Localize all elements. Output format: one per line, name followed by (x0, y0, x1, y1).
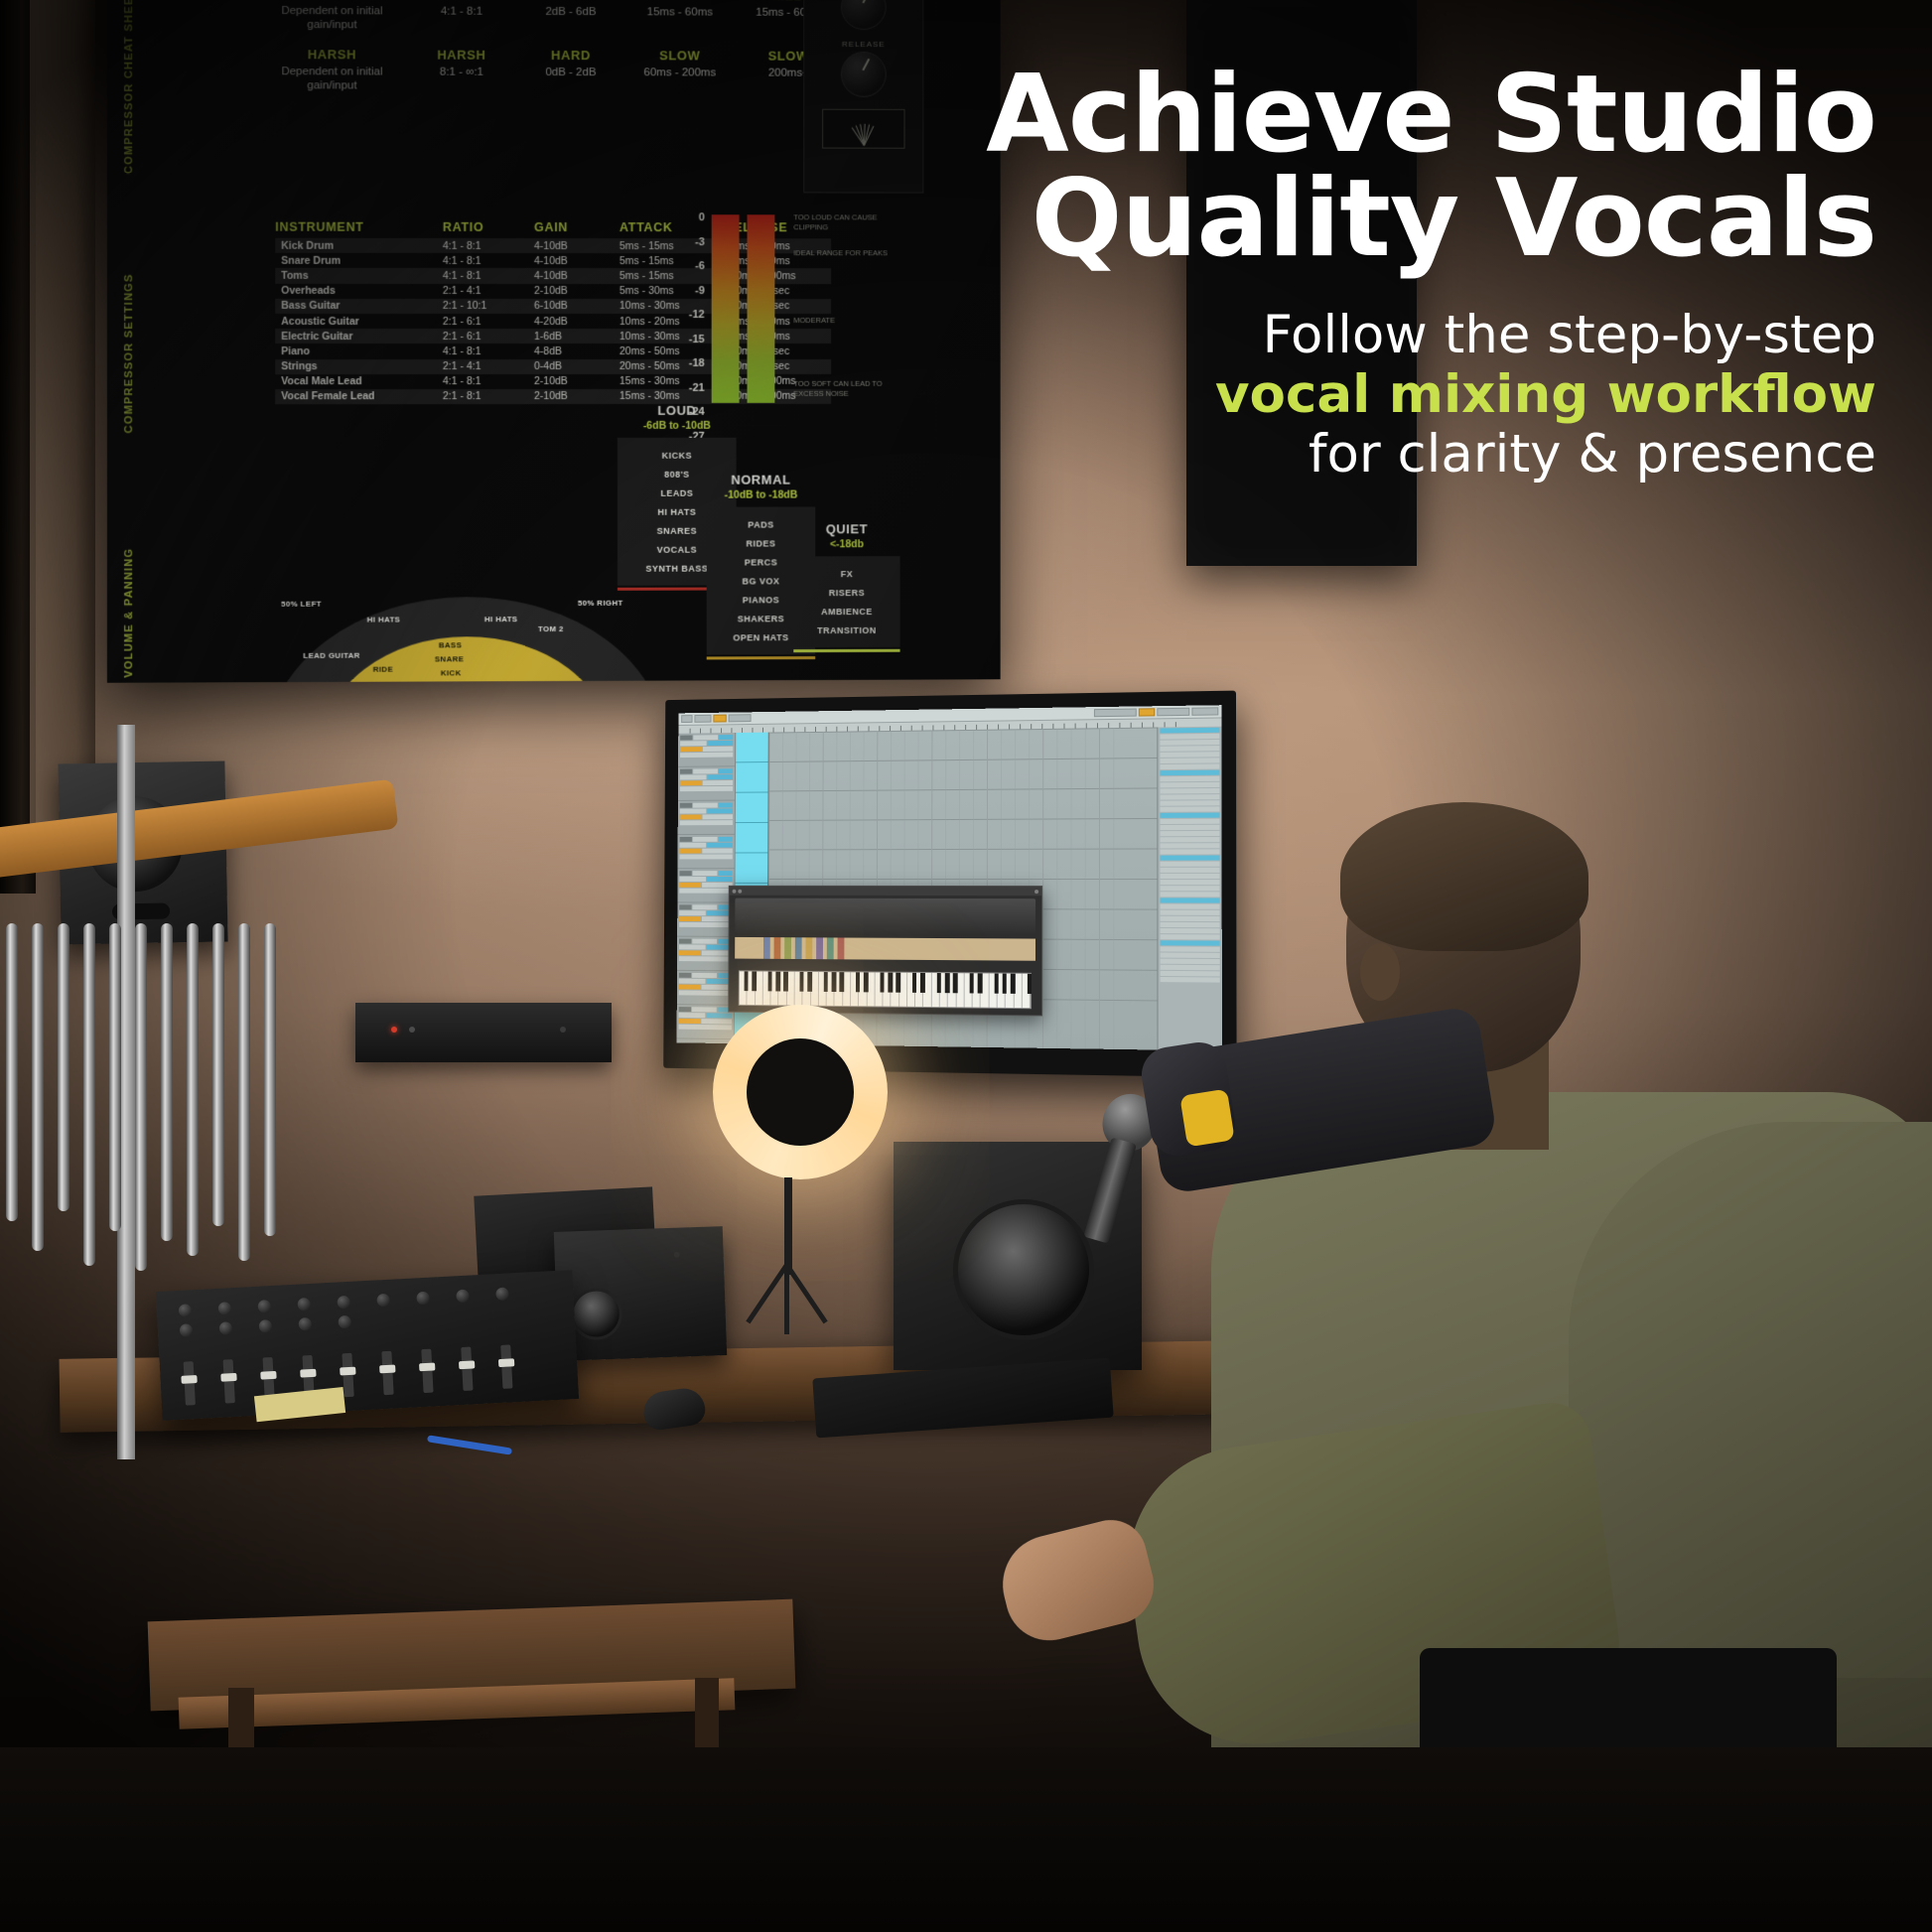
mixer-fader[interactable] (184, 1361, 196, 1405)
piano-black-key[interactable] (1011, 974, 1015, 994)
daw-track-header[interactable] (677, 902, 734, 937)
piano-black-key[interactable] (776, 972, 780, 992)
piano-black-key[interactable] (768, 972, 772, 992)
piano-black-key[interactable] (937, 973, 941, 993)
daw-track-header[interactable] (678, 835, 735, 869)
piano-white-key[interactable] (763, 972, 771, 1006)
piano-black-key[interactable] (945, 973, 949, 993)
piano-white-key[interactable] (940, 973, 948, 1007)
daw-mixer-row[interactable] (1160, 740, 1219, 746)
mixer-fader[interactable] (223, 1359, 235, 1403)
piano-white-key[interactable] (907, 973, 915, 1007)
subhead-line-2-accent: vocal mixing workflow (874, 365, 1876, 425)
piano-black-key[interactable] (745, 971, 749, 991)
piano-black-key[interactable] (897, 973, 900, 993)
headline-line-2: Quality Vocals (874, 168, 1876, 272)
mixer-fader[interactable] (461, 1347, 473, 1391)
status-led (409, 1027, 415, 1033)
daw-mixer-row[interactable] (1160, 770, 1219, 776)
chime-rod (264, 923, 276, 1236)
piano-white-key[interactable] (795, 972, 803, 1006)
piano-white-key[interactable] (932, 973, 940, 1007)
wind-chimes (0, 923, 318, 1251)
guitar-pedal (554, 1226, 727, 1361)
subhead-block: Follow the step-by-step vocal mixing wor… (874, 306, 1876, 485)
daw-toolbar-chip-active[interactable] (713, 715, 726, 723)
daw-track-header[interactable] (678, 801, 735, 836)
piano-black-key[interactable] (880, 973, 884, 993)
daw-mixer-row[interactable] (1160, 782, 1219, 788)
daw-mixer-row[interactable] (1160, 776, 1219, 782)
daw-toolbar-chip[interactable] (1094, 709, 1137, 718)
piano-white-key[interactable] (956, 973, 964, 1007)
chime-rod (212, 923, 224, 1226)
virtual-piano-keyboard[interactable] (739, 970, 1032, 1009)
chime-rod (135, 923, 147, 1271)
ring-light-stem (784, 1177, 792, 1275)
piano-white-key[interactable] (948, 973, 956, 1007)
daw-mixer-row[interactable] (1160, 746, 1219, 752)
chime-rod (6, 923, 18, 1221)
piano-black-key[interactable] (784, 972, 788, 992)
rack-preamp (355, 1003, 612, 1062)
piano-white-key[interactable] (1023, 974, 1031, 1008)
daw-track-header[interactable] (678, 766, 735, 801)
daw-track-header[interactable] (678, 733, 735, 767)
daw-mixer-row[interactable] (1160, 728, 1219, 734)
daw-track-header[interactable] (677, 971, 734, 1006)
piano-white-key[interactable] (875, 973, 883, 1007)
piano-black-key[interactable] (840, 972, 844, 992)
daw-toolbar-chip[interactable] (1157, 708, 1189, 717)
daw-audio-clip[interactable] (735, 853, 767, 884)
chime-rod (161, 923, 173, 1241)
subhead-line-1: Follow the step-by-step (874, 306, 1876, 365)
piano-plugin-window[interactable] (728, 886, 1042, 1017)
mixer-fader[interactable] (342, 1353, 353, 1397)
mixer-fader[interactable] (421, 1349, 433, 1393)
chime-rod (58, 923, 69, 1211)
ear (1360, 943, 1400, 1001)
plugin-titlebar[interactable] (730, 887, 1041, 896)
piano-black-key[interactable] (970, 973, 974, 993)
daw-audio-clip[interactable] (736, 792, 768, 823)
piano-white-key[interactable] (1006, 974, 1014, 1008)
piano-white-key[interactable] (965, 973, 973, 1007)
pedal-dial-knob[interactable] (570, 1288, 623, 1341)
piano-white-key[interactable] (998, 974, 1006, 1008)
piano-white-key[interactable] (989, 973, 997, 1007)
ring-light (713, 1005, 888, 1179)
piano-black-key[interactable] (889, 973, 893, 993)
plugin-color-strips (735, 937, 1035, 961)
plugin-close-icon[interactable] (1035, 890, 1038, 894)
piano-black-key[interactable] (800, 972, 804, 992)
marketing-overlay: Achieve Studio Quality Vocals Follow the… (874, 64, 1876, 485)
mixer-fader[interactable] (381, 1351, 393, 1395)
piano-white-key[interactable] (1014, 974, 1022, 1008)
status-led (560, 1027, 566, 1033)
daw-track-header[interactable] (677, 1005, 734, 1039)
daw-mixer-row[interactable] (1160, 788, 1219, 794)
audio-mixer[interactable] (156, 1270, 579, 1421)
mixer-fader[interactable] (500, 1344, 512, 1388)
chime-rod (238, 923, 250, 1261)
piano-white-key[interactable] (740, 971, 748, 1005)
piano-black-key[interactable] (1028, 974, 1032, 994)
piano-black-key[interactable] (808, 972, 812, 992)
piano-black-key[interactable] (864, 972, 868, 992)
piano-black-key[interactable] (824, 972, 828, 992)
scene-root: COMPRESSOR CHEAT SHEET COMPRESSOR SETTIN… (0, 0, 1932, 1932)
piano-white-key[interactable] (981, 973, 989, 1007)
daw-track-header[interactable] (677, 869, 734, 902)
plugin-piano-lid (735, 898, 1035, 939)
chime-rod (109, 923, 121, 1231)
piano-white-key[interactable] (819, 972, 827, 1006)
daw-toolbar-chip[interactable] (694, 715, 711, 723)
headphone-accent (1179, 1089, 1235, 1148)
daw-audio-clip[interactable] (736, 762, 768, 793)
plugin-dot-icon[interactable] (733, 889, 737, 893)
piano-black-key[interactable] (912, 973, 916, 993)
ring-light-tripod (715, 1265, 864, 1334)
power-led (391, 1027, 397, 1033)
computer-monitor (655, 695, 1231, 1072)
daw-application (677, 705, 1222, 1050)
piano-black-key[interactable] (1003, 974, 1007, 994)
daw-toolbar-chip-active[interactable] (1139, 708, 1155, 716)
hair (1340, 802, 1588, 951)
piano-black-key[interactable] (753, 971, 757, 991)
daw-mixer-row[interactable] (1160, 758, 1219, 763)
daw-track-header[interactable] (677, 937, 734, 972)
monitor-screen (677, 705, 1222, 1050)
daw-audio-clip[interactable] (736, 823, 768, 854)
piano-white-key[interactable] (973, 973, 981, 1007)
piano-white-key[interactable] (851, 972, 859, 1006)
daw-toolbar-chip[interactable] (729, 714, 752, 722)
piano-black-key[interactable] (978, 973, 982, 993)
chime-rod (32, 923, 44, 1251)
piano-black-key[interactable] (920, 973, 924, 993)
headline-line-1: Achieve Studio (874, 64, 1876, 168)
piano-black-key[interactable] (994, 974, 998, 994)
floor (0, 1747, 1932, 1932)
piano-black-key[interactable] (832, 972, 836, 992)
daw-toolbar-chip[interactable] (1191, 707, 1218, 716)
daw-mixer-row[interactable] (1160, 763, 1219, 769)
piano-black-key[interactable] (953, 973, 957, 993)
chime-rod (187, 923, 199, 1256)
subhead-line-3: for clarity & presence (874, 425, 1876, 484)
pedal-led (674, 1252, 680, 1258)
plugin-dot-icon[interactable] (738, 889, 742, 893)
piano-black-key[interactable] (856, 972, 860, 992)
chime-rod (83, 923, 95, 1266)
daw-mixer-row[interactable] (1160, 734, 1219, 740)
daw-toolbar-chip[interactable] (681, 715, 692, 723)
shoulder (1569, 1122, 1932, 1678)
daw-audio-clip[interactable] (736, 733, 768, 763)
daw-mixer-row[interactable] (1160, 752, 1219, 758)
